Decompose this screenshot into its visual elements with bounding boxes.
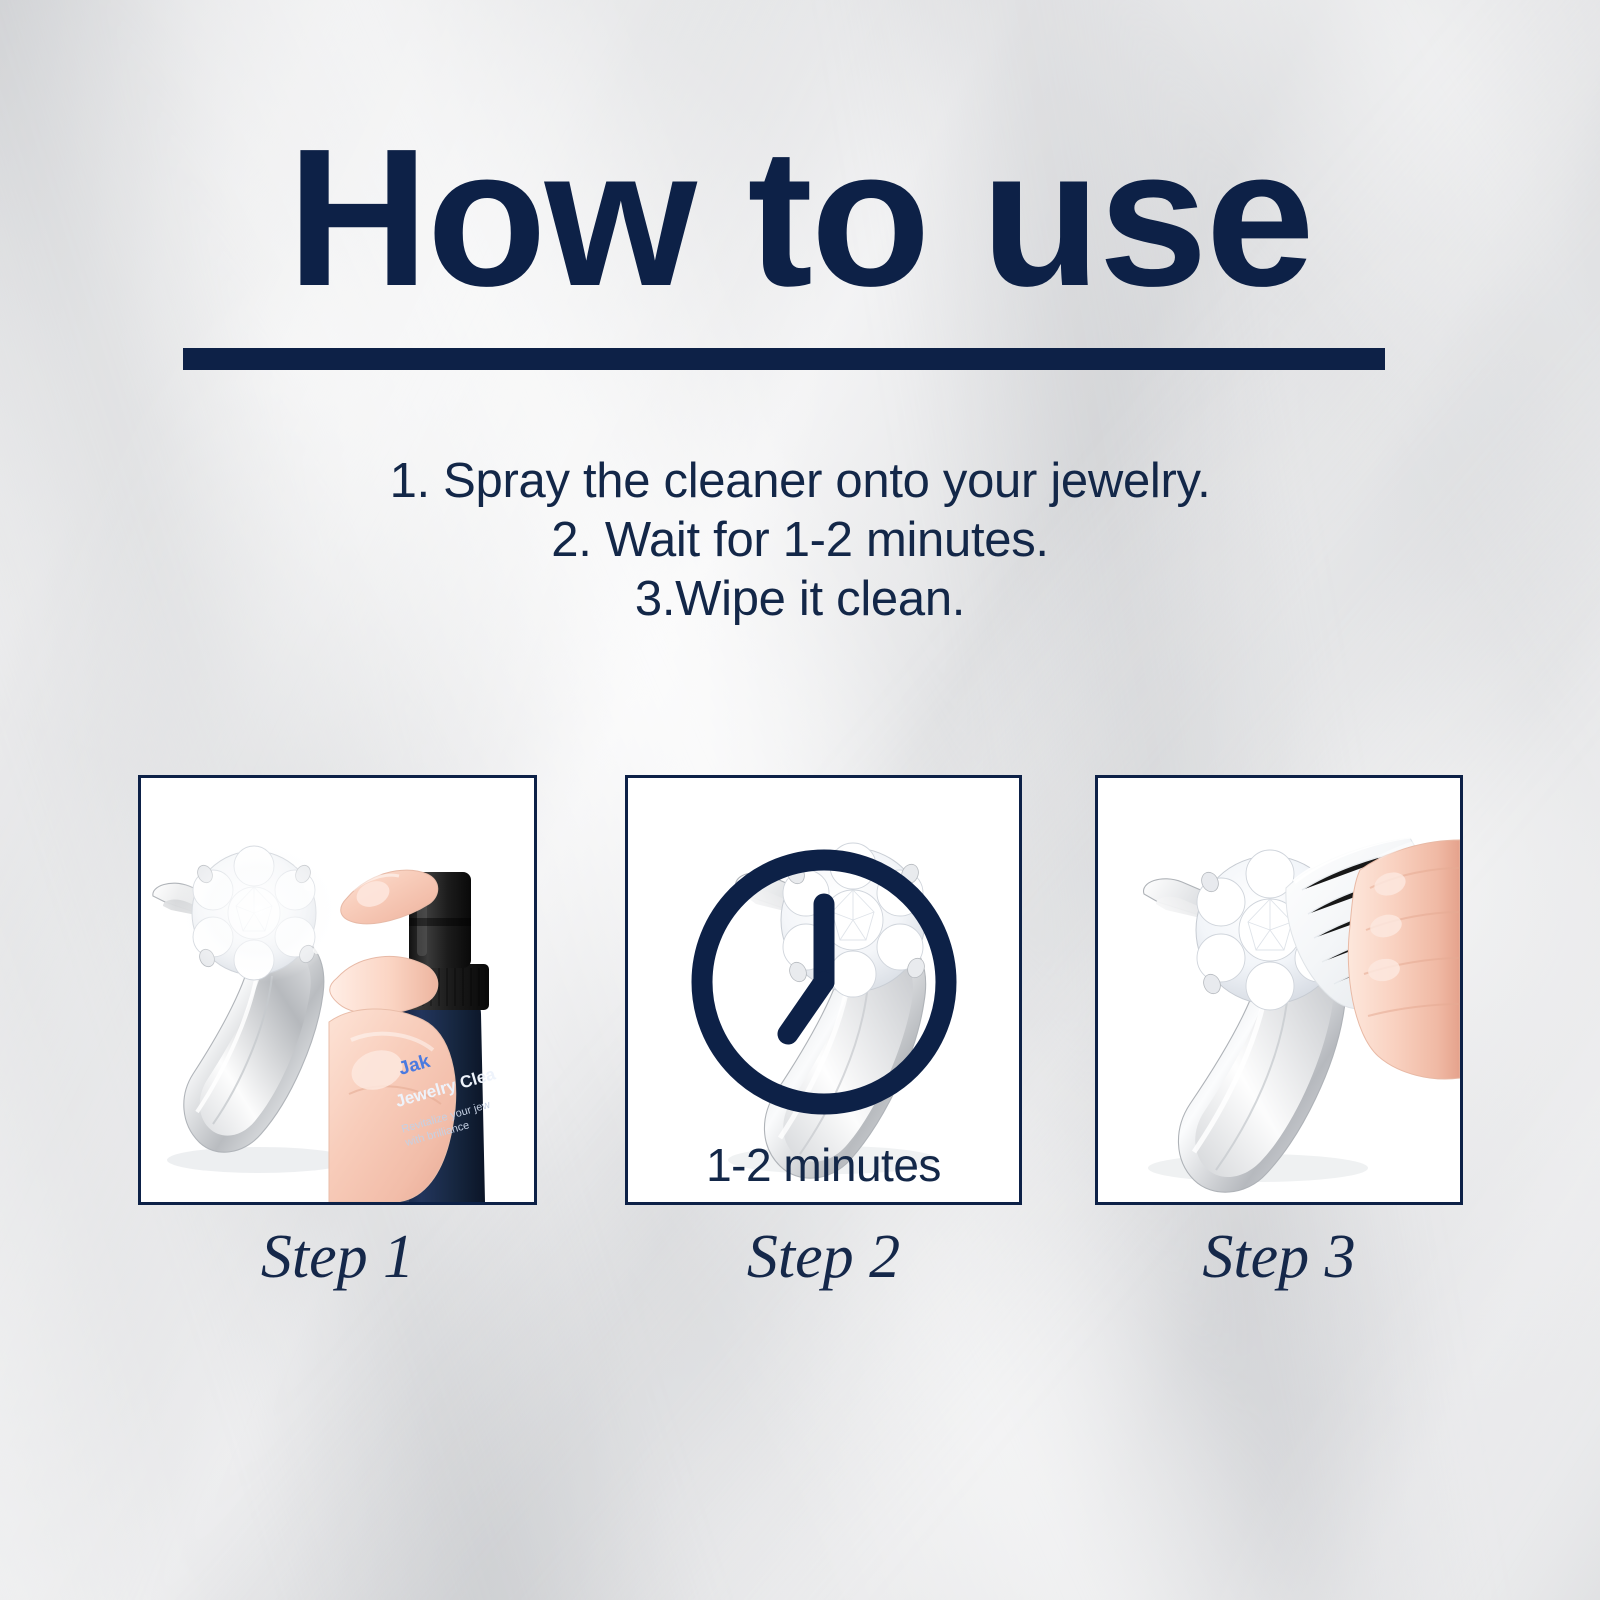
step-panels: Jak Jewelry Clea Revitalize your jew wit… — [0, 775, 1600, 1205]
how-to-use-page: How to use 1. Spray the cleaner onto you… — [0, 0, 1600, 1600]
step-3-illustration — [1098, 778, 1460, 1202]
instruction-line-3: 3.Wipe it clean. — [0, 570, 1600, 629]
step-captions: Step 1 Step 2 Step 3 — [0, 1222, 1600, 1332]
step-3-caption: Step 3 — [1095, 1222, 1463, 1293]
step-3-panel[interactable] — [1095, 775, 1463, 1205]
step-2-panel[interactable]: 1-2 minutes — [625, 775, 1022, 1205]
step-1-illustration: Jak Jewelry Clea Revitalize your jew wit… — [141, 778, 534, 1202]
step-2-caption: Step 2 — [625, 1222, 1022, 1293]
title-underline-bar — [183, 348, 1385, 370]
step-1-caption: Step 1 — [138, 1222, 537, 1293]
timer-label: 1-2 minutes — [628, 1138, 1019, 1192]
step-2-image: 1-2 minutes — [628, 778, 1019, 1202]
instructions-block: 1. Spray the cleaner onto your jewelry. … — [0, 452, 1600, 629]
step-3-image — [1098, 778, 1460, 1202]
instruction-line-1: 1. Spray the cleaner onto your jewelry. — [0, 452, 1600, 511]
page-title: How to use — [0, 120, 1600, 316]
instruction-line-2: 2. Wait for 1-2 minutes. — [0, 511, 1600, 570]
step-1-panel[interactable]: Jak Jewelry Clea Revitalize your jew wit… — [138, 775, 537, 1205]
step-1-image: Jak Jewelry Clea Revitalize your jew wit… — [141, 778, 534, 1202]
